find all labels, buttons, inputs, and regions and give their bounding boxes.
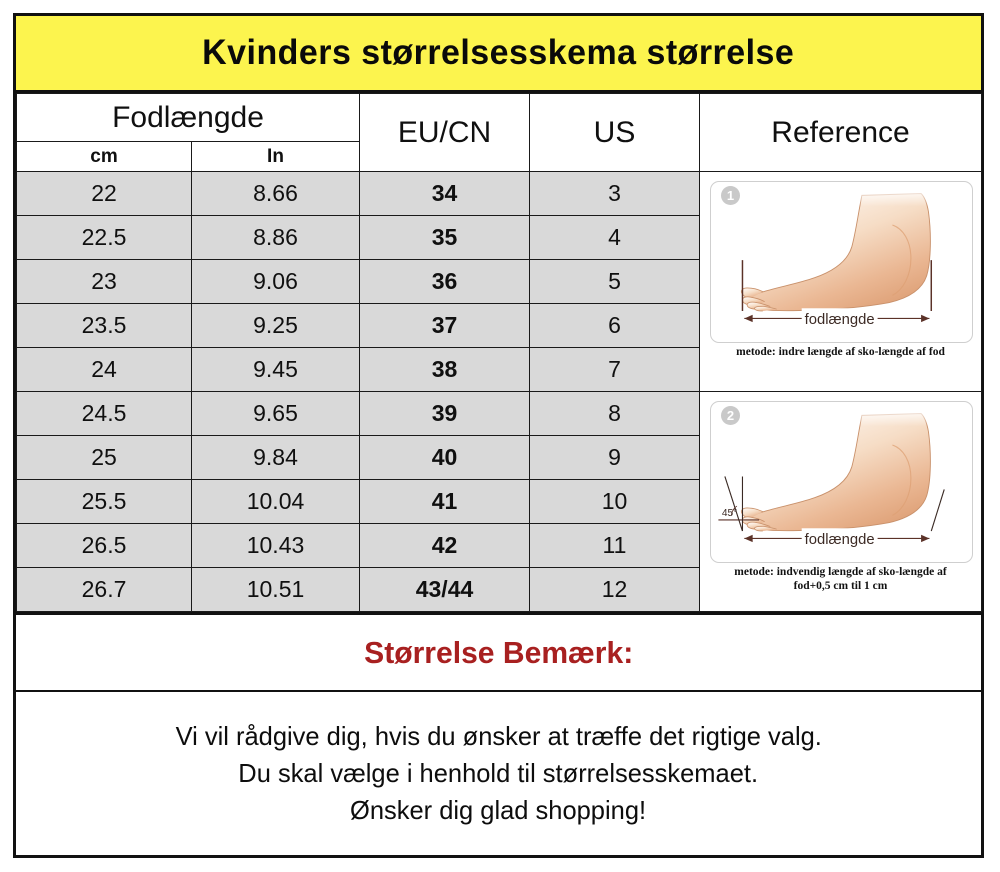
note-heading: Størrelse Bemærk: xyxy=(364,635,633,671)
cell-cm: 25.5 xyxy=(17,480,192,524)
cell-us: 3 xyxy=(530,172,700,216)
cell-in: 10.04 xyxy=(192,480,360,524)
table-row: 22 8.66 34 3 1 xyxy=(17,172,982,216)
cell-us: 8 xyxy=(530,392,700,436)
cell-eu: 37 xyxy=(360,304,530,348)
size-table: Fodlængde EU/CN US Reference cm In 22 8.… xyxy=(16,93,982,612)
table-body: 22 8.66 34 3 1 xyxy=(17,172,982,612)
cell-us: 4 xyxy=(530,216,700,260)
badge-number-1-icon: 1 xyxy=(721,186,740,205)
cell-in: 9.65 xyxy=(192,392,360,436)
cell-cm: 25 xyxy=(17,436,192,480)
cell-eu: 42 xyxy=(360,524,530,568)
reference-panel-1: 1 xyxy=(700,172,982,392)
reference-card-2: 2 xyxy=(710,401,973,563)
foot-side-view-1-icon: fodlængde xyxy=(711,182,972,342)
dimension-label-2: fodlængde xyxy=(805,532,875,548)
reference-caption-2: metode: indvendig længde af sko-længde a… xyxy=(704,565,977,594)
dimension-label-1: fodlængde xyxy=(805,312,875,328)
cell-cm: 24.5 xyxy=(17,392,192,436)
foot-side-view-2-icon: 45° fodlængde xyxy=(711,402,972,562)
reference-panel-2: 2 xyxy=(700,392,982,612)
header-fodlaengde: Fodlængde xyxy=(17,94,360,142)
header-eu-cn: EU/CN xyxy=(360,94,530,172)
cell-in: 8.66 xyxy=(192,172,360,216)
note-line-1: Vi vil rådgive dig, hvis du ønsker at tr… xyxy=(175,718,821,755)
cell-in: 9.25 xyxy=(192,304,360,348)
cell-in: 9.06 xyxy=(192,260,360,304)
cell-in: 8.86 xyxy=(192,216,360,260)
page-title: Kvinders størrelsesskema størrelse xyxy=(202,33,794,73)
header-reference: Reference xyxy=(700,94,982,172)
reference-caption-2-line1: metode: indvendig længde af sko-længde a… xyxy=(734,566,946,578)
header-us: US xyxy=(530,94,700,172)
cell-us: 7 xyxy=(530,348,700,392)
cell-in: 9.45 xyxy=(192,348,360,392)
cell-eu: 38 xyxy=(360,348,530,392)
cell-cm: 26.5 xyxy=(17,524,192,568)
cell-eu: 35 xyxy=(360,216,530,260)
reference-caption-2-line2: fod+0,5 cm til 1 cm xyxy=(794,580,888,592)
table-head: Fodlængde EU/CN US Reference cm In xyxy=(17,94,982,172)
note-heading-row: Størrelse Bemærk: xyxy=(16,612,981,692)
cell-in: 9.84 xyxy=(192,436,360,480)
header-cm: cm xyxy=(17,142,192,172)
cell-cm: 23 xyxy=(17,260,192,304)
title-banner: Kvinders størrelsesskema størrelse xyxy=(16,16,981,93)
cell-us: 5 xyxy=(530,260,700,304)
cell-eu: 43/44 xyxy=(360,568,530,612)
reference-caption-1: metode: indre længde af sko-længde af fo… xyxy=(704,345,977,359)
cell-us: 12 xyxy=(530,568,700,612)
cell-cm: 26.7 xyxy=(17,568,192,612)
cell-eu: 34 xyxy=(360,172,530,216)
header-in: In xyxy=(192,142,360,172)
cell-cm: 22 xyxy=(17,172,192,216)
note-line-2: Du skal vælge i henhold til størrelsessk… xyxy=(239,755,759,792)
cell-eu: 39 xyxy=(360,392,530,436)
note-body: Vi vil rådgive dig, hvis du ønsker at tr… xyxy=(16,692,981,855)
note-line-3: Ønsker dig glad shopping! xyxy=(350,792,646,829)
table-header-row-group: Fodlængde EU/CN US Reference xyxy=(17,94,982,142)
table-row: 24.5 9.65 39 8 2 xyxy=(17,392,982,436)
size-chart-frame: Kvinders størrelsesskema størrelse Fodlæ… xyxy=(13,13,984,858)
badge-number-2-icon: 2 xyxy=(721,406,740,425)
cell-eu: 40 xyxy=(360,436,530,480)
cell-us: 6 xyxy=(530,304,700,348)
cell-cm: 22.5 xyxy=(17,216,192,260)
cell-eu: 41 xyxy=(360,480,530,524)
cell-cm: 23.5 xyxy=(17,304,192,348)
angle-label-45: 45° xyxy=(722,508,737,519)
cell-eu: 36 xyxy=(360,260,530,304)
cell-in: 10.51 xyxy=(192,568,360,612)
cell-us: 9 xyxy=(530,436,700,480)
cell-us: 11 xyxy=(530,524,700,568)
cell-us: 10 xyxy=(530,480,700,524)
cell-in: 10.43 xyxy=(192,524,360,568)
reference-card-1: 1 xyxy=(710,181,973,343)
cell-cm: 24 xyxy=(17,348,192,392)
